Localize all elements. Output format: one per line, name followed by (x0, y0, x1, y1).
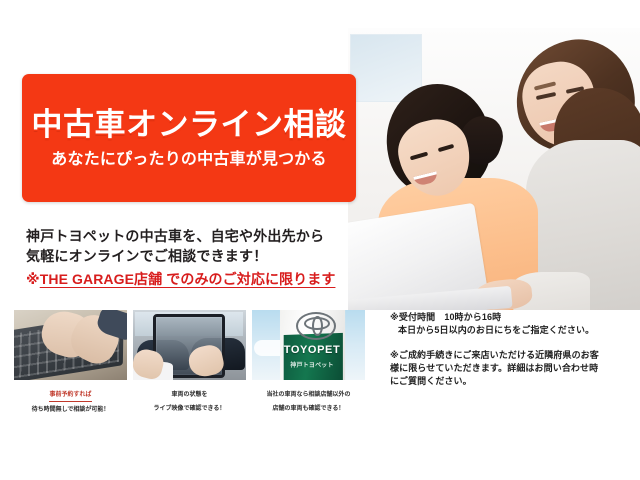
promo-banner-page: 中古車オンライン相談 あなたにぴったりの中古車が見つかる 神戸トヨペットの中古車… (0, 0, 640, 480)
note-contract-line-1: ※ご成約手続きにご来店いただける近隣府県のお客 (390, 349, 630, 362)
note-block-hours: ※受付時間 10時から16時 本日から5日以内のお日にちをご指定ください。 (390, 311, 630, 337)
feature-caption-text-1: 待ち時間無しで相談が可能！ (14, 406, 127, 415)
banner-title: 中古車オンライン相談 (32, 109, 347, 140)
feature-caption-highlight-2: 車両の状態を (171, 391, 207, 401)
feature-caption-highlight-1: 事前予約すれば (49, 391, 91, 402)
feature-item-2: 車両の状態を ライブ映像で確認できる！ (133, 310, 246, 415)
lead-copy: 神戸トヨペットの中古車を、自宅や外出先から 気軽にオンラインでご相談できます！ … (26, 226, 356, 289)
thumbnail-image-tablet (133, 310, 246, 380)
note-asterisk-mark: ※ (26, 271, 40, 287)
feature-caption-text-3: 店舗の車両も確認できる！ (252, 405, 365, 414)
feature-caption-3: 当社の車両なら相談店舗以外の 店舗の車両も確認できる！ (252, 387, 365, 414)
feature-caption-1: 事前予約すれば 待ち時間無しで相談が可能！ (14, 387, 127, 415)
lead-restriction-note: ※THE GARAGE店舗 でのみのご対応に限ります (26, 270, 356, 289)
toyopet-brand-text: TOYOPET (283, 344, 341, 356)
note-block-contract: ※ご成約手続きにご来店いただける近隣府県のお客 様に限らせていただきます。詳細は… (390, 349, 630, 388)
feature-item-1: 事前予約すれば 待ち時間無しで相談が可能！ (14, 310, 127, 415)
feature-item-3: TOYOPET 神戸トヨペット 当社の車両なら相談店舗以外の 店舗の車両も確認で… (252, 310, 365, 415)
headline-banner: 中古車オンライン相談 あなたにぴったりの中古車が見つかる (22, 74, 356, 202)
feature-caption-highlight-3: 当社の車両なら相談店舗以外の (266, 391, 350, 401)
sign-green-panel (284, 333, 343, 380)
thumbnail-image-toyopet-sign: TOYOPET 神戸トヨペット (252, 310, 365, 380)
feature-caption-2: 車両の状態を ライブ映像で確認できる！ (133, 387, 246, 414)
lead-line-1: 神戸トヨペットの中古車を、自宅や外出先から (26, 226, 356, 246)
lead-line-2: 気軽にオンラインでご相談できます！ (26, 246, 356, 266)
note-hours-line-1: ※受付時間 10時から16時 (390, 311, 630, 324)
banner-subtitle: あなたにぴったりの中古車が見つかる (51, 152, 326, 168)
feature-thumbnail-row: 事前予約すれば 待ち時間無しで相談が可能！ 車両の状態を ライブ映像で確認できる… (14, 310, 366, 415)
toyopet-subbrand-text: 神戸トヨペット (283, 360, 341, 369)
toyota-logo-icon (296, 312, 336, 340)
note-underlined-text: THE GARAGE店舗 でのみのご対応に限ります (40, 271, 336, 287)
feature-caption-text-2: ライブ映像で確認できる！ (133, 405, 246, 414)
note-contract-line-3: にご質問ください。 (390, 375, 630, 388)
hero-photo-mother-and-daughter (348, 28, 640, 310)
notes-section: ※受付時間 10時から16時 本日から5日以内のお日にちをご指定ください。 ※ご… (390, 311, 630, 400)
thumbnail-image-keyboard (14, 310, 127, 380)
note-hours-line-2: 本日から5日以内のお日にちをご指定ください。 (390, 324, 630, 337)
note-contract-line-2: 様に限らせていただきます。詳細はお問い合わせ時 (390, 362, 630, 375)
